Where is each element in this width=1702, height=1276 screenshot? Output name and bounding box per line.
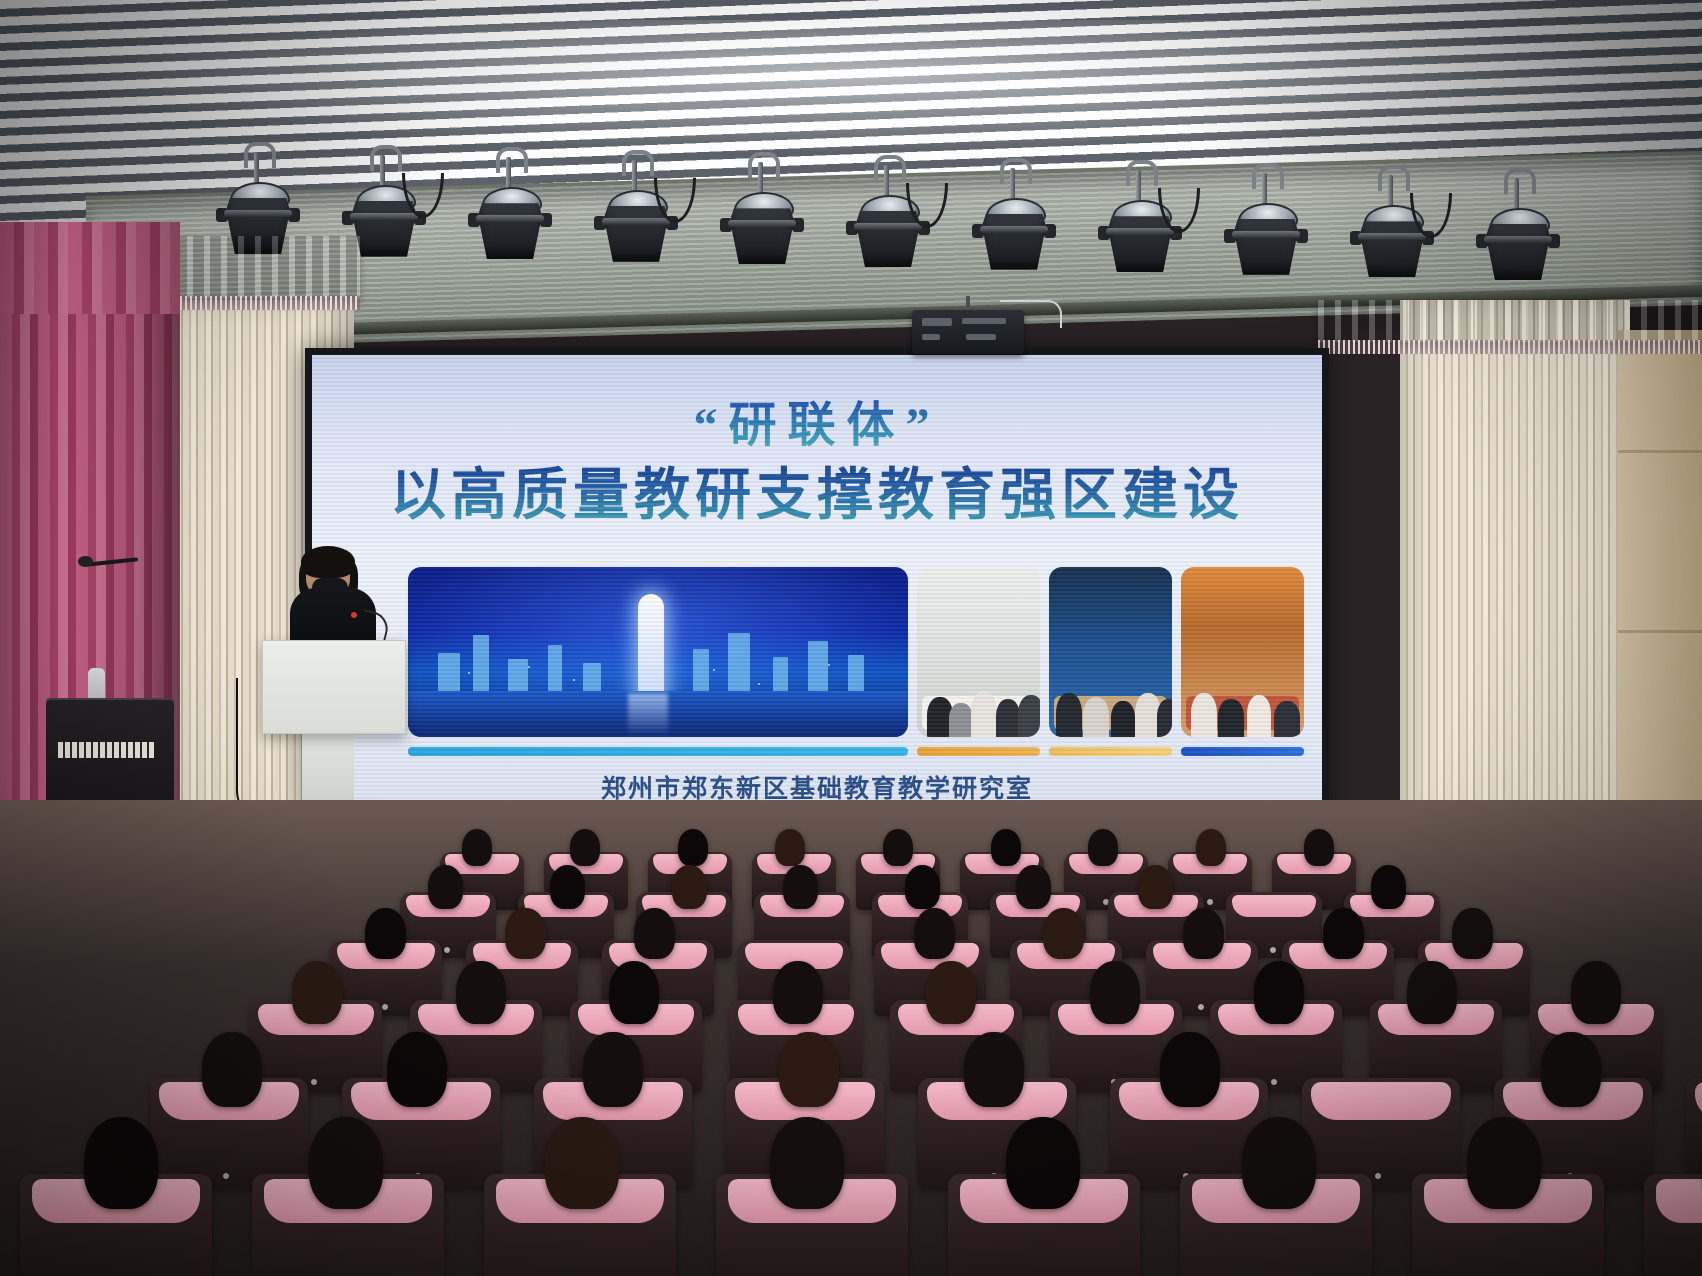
slide-photo-meeting-2 — [1049, 567, 1172, 737]
audience-member-head — [365, 908, 406, 959]
curtain-valance-right — [1318, 300, 1702, 342]
audience-member-head — [1242, 1117, 1316, 1210]
audience-member-head — [387, 1032, 447, 1107]
audience-member-head — [505, 908, 546, 959]
microphone-capsule — [78, 556, 93, 567]
ceiling-light-glow — [0, 20, 1702, 160]
audience-member-head — [1467, 1117, 1541, 1210]
audience-member-head — [545, 1117, 619, 1210]
audience-member-head — [583, 1032, 643, 1107]
audience-area — [0, 800, 1702, 1276]
audience-member-head — [428, 865, 463, 909]
presenter-hair — [301, 546, 355, 578]
accent-bar-orange-1 — [917, 747, 1040, 756]
audience-member-head — [1452, 908, 1493, 959]
auditorium-seat — [1686, 1078, 1702, 1188]
audience-member-head — [1571, 961, 1621, 1024]
audience-member-head — [1541, 1032, 1601, 1107]
audience-member-head — [773, 961, 823, 1024]
slide-photo-city-skyline — [408, 567, 908, 737]
audience-member-head — [1160, 1032, 1220, 1107]
par-stage-light — [1478, 178, 1558, 298]
projector-cable — [1000, 300, 1062, 328]
accent-bar-blue-2 — [1181, 747, 1304, 756]
audience-member-head — [456, 961, 506, 1024]
audience-member-head — [883, 829, 913, 867]
valance-fringe-right — [1318, 340, 1702, 354]
par-stage-light — [1226, 173, 1306, 293]
auditorium-seat — [1644, 1174, 1702, 1276]
slide-photo-row — [408, 567, 1304, 737]
audience-member-head — [926, 961, 976, 1024]
audience-member-head — [678, 829, 708, 867]
audience-member-head — [1196, 829, 1226, 867]
audience-member-head — [1006, 1117, 1080, 1210]
audience-member-head — [1043, 908, 1084, 959]
audience-member-head — [309, 1117, 383, 1210]
slide-title-line1: “研联体” — [312, 385, 1322, 455]
audience-member-head — [914, 908, 955, 959]
accent-bar-orange-2 — [1049, 747, 1172, 756]
audience-member-head — [783, 865, 818, 909]
par-stage-light — [470, 157, 550, 277]
audience-member-head — [1090, 961, 1140, 1024]
audience-member-head — [672, 865, 707, 909]
audience-member-head — [779, 1032, 839, 1107]
audience-member-head — [462, 829, 492, 867]
audience-member-head — [609, 961, 659, 1024]
audience-member-head — [770, 1117, 844, 1210]
audience-member-head — [1183, 908, 1224, 959]
accent-bar-blue — [408, 747, 908, 756]
audience-member-head — [550, 865, 585, 909]
audience-member-head — [1016, 865, 1051, 909]
par-stage-light — [974, 168, 1054, 288]
audience-member-head — [1088, 829, 1118, 867]
audience-member-head — [84, 1117, 158, 1210]
projection-screen: “研联体” 以高质量教研支撑教育强区建设 — [305, 348, 1329, 817]
lapel-pin — [351, 612, 357, 618]
podium-lectern — [262, 640, 406, 734]
audience-member-head — [1138, 865, 1173, 909]
slide-accent-bars — [408, 747, 1304, 756]
auditorium-presentation-scene: “研联体” 以高质量教研支撑教育强区建设 — [0, 0, 1702, 1276]
audience-member-head — [905, 865, 940, 909]
audience-member-head — [1254, 961, 1304, 1024]
presentation-slide: “研联体” 以高质量教研支撑教育强区建设 — [312, 355, 1322, 810]
audience-member-head — [1407, 961, 1457, 1024]
auditorium-seat — [1302, 1078, 1460, 1188]
slide-photo-meeting-3 — [1181, 567, 1304, 737]
audience-member-head — [1304, 829, 1334, 867]
audience-member-head — [1371, 865, 1406, 909]
par-stage-light — [722, 162, 802, 282]
audience-member-head — [964, 1032, 1024, 1107]
audience-member-head — [292, 961, 342, 1024]
audience-member-head — [775, 829, 805, 867]
slide-title-line2: 以高质量教研支撑教育强区建设 — [312, 450, 1322, 531]
audience-member-head — [991, 829, 1021, 867]
audience-member-head — [1323, 908, 1364, 959]
piano-keyboard — [58, 742, 154, 758]
audience-member-head — [202, 1032, 262, 1107]
audience-member-head — [634, 908, 675, 959]
slide-photo-meeting-1 — [917, 567, 1040, 737]
audience-member-head — [570, 829, 600, 867]
